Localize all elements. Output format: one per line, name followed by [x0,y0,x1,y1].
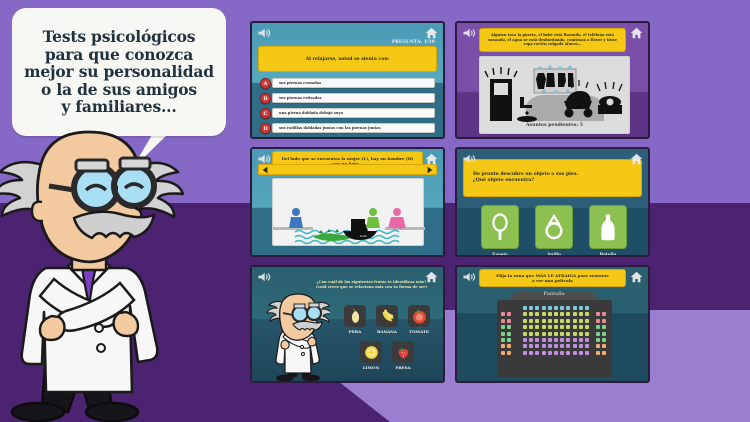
seat-side-right-middle[interactable] [596,325,600,329]
seat-center-middle[interactable] [566,332,570,336]
seat-center-middle[interactable] [585,332,589,336]
svg-text:bote: bote [360,234,367,238]
seat-side-left-back[interactable] [501,351,505,355]
seat-center-middle[interactable] [585,325,589,329]
seat-center-middle[interactable] [529,312,533,316]
seat-center-back[interactable] [573,338,577,342]
question-text: Al relajarse, usted se sienta con: [258,46,437,72]
answer-option-a[interactable]: sus piernas cruzadas [272,78,435,88]
screenshot-question-multiple-choice[interactable]: PREGUNTA: 1/10 Al relajarse, usted se si… [250,21,445,139]
seat-center-front[interactable] [535,306,539,310]
answer-badge-a[interactable]: A [260,78,271,89]
seat-side-left-front[interactable] [507,312,511,316]
speaker-icon[interactable] [462,271,476,283]
seat-center-back[interactable] [554,351,558,355]
seat-center-middle[interactable] [542,332,546,336]
seat-center-middle[interactable] [566,312,570,316]
seat-center-middle[interactable] [535,312,539,316]
seat-side-right-middle[interactable] [602,338,606,342]
strawberry-icon [395,344,412,361]
option-card-anillo[interactable] [535,205,573,249]
professor-character [0,120,184,422]
seat-center-front[interactable] [523,306,527,310]
seat-center-back[interactable] [529,344,533,348]
seat-center-back[interactable] [554,344,558,348]
seat-center-front[interactable] [585,306,589,310]
professor-avatar [266,291,330,383]
seat-center-back[interactable] [566,344,570,348]
screenshot-cinema-seat-choice[interactable]: Elija la zona que MÁS LE ATRAIGA para se… [455,265,650,383]
seat-side-right-front[interactable] [602,312,606,316]
seat-center-back[interactable] [560,338,564,342]
home-icon[interactable] [425,153,438,165]
river-scene: bote [273,179,425,247]
seat-center-middle[interactable] [535,332,539,336]
seat-center-back[interactable] [554,338,558,342]
nav-bar [258,164,437,175]
home-icon[interactable] [425,27,438,39]
seat-center-back[interactable] [548,338,552,342]
seat-center-back[interactable] [542,351,546,355]
seat-center-back[interactable] [566,338,570,342]
prev-arrow-icon[interactable] [261,166,269,174]
seat-side-right-middle[interactable] [596,338,600,342]
seat-center-back[interactable] [548,344,552,348]
seat-center-middle[interactable] [554,332,558,336]
seat-side-left-front[interactable] [501,312,505,316]
seat-center-back[interactable] [529,338,533,342]
seat-center-middle[interactable] [573,319,577,323]
seat-side-right-front[interactable] [596,312,600,316]
answer-badge-d[interactable]: D [260,123,271,134]
answer-option-c[interactable]: una pierna doblada debajo suyo [272,108,435,118]
seat-center-back[interactable] [523,338,527,342]
seat-side-right-back[interactable] [596,344,600,348]
seat-center-middle[interactable] [529,325,533,329]
seat-center-back[interactable] [560,344,564,348]
answer-badge-c[interactable]: C [260,108,271,119]
lemon-icon [363,344,380,361]
seat-side-right-back[interactable] [602,344,606,348]
home-icon[interactable] [630,27,643,39]
seat-center-middle[interactable] [579,325,583,329]
seat-center-back[interactable] [585,344,589,348]
option-card-espejo[interactable] [481,205,519,249]
seat-center-middle[interactable] [535,319,539,323]
seat-side-left-front[interactable] [507,319,511,323]
seat-center-middle[interactable] [548,325,552,329]
seat-center-middle[interactable] [523,325,527,329]
screen-label: Pantalla [509,292,599,297]
speaker-icon[interactable] [257,153,271,165]
seat-side-left-back[interactable] [507,344,511,348]
fruit-label-fresa: FRESA [383,365,423,370]
seat-center-middle[interactable] [579,332,583,336]
scenario-text: Alguien toca la puerta, el bebé está llo… [479,28,626,52]
seat-center-middle[interactable] [566,325,570,329]
seat-center-back[interactable] [535,338,539,342]
question-text: Elija la zona que MÁS LE ATRAIGA para se… [479,269,626,287]
seat-center-back[interactable] [535,344,539,348]
bottle-icon [597,212,619,242]
seat-side-left-middle[interactable] [501,325,505,329]
seat-center-back[interactable] [579,351,583,355]
seat-center-front[interactable] [548,306,552,310]
option-label-botella: Botella [583,252,633,257]
seat-center-front[interactable] [529,306,533,310]
seat-center-middle[interactable] [560,319,564,323]
seat-side-left-middle[interactable] [507,325,511,329]
seat-center-back[interactable] [566,351,570,355]
seat-center-front[interactable] [573,306,577,310]
seat-center-back[interactable] [523,344,527,348]
seat-center-back[interactable] [548,351,552,355]
screenshot-object-choice[interactable]: De pronto descubre un objeto a sus pies.… [455,147,650,257]
seat-center-middle[interactable] [585,312,589,316]
seat-center-middle[interactable] [529,319,533,323]
fruit-card-limon[interactable] [360,341,382,363]
seat-center-middle[interactable] [573,325,577,329]
seat-side-right-middle[interactable] [602,325,606,329]
seating-chart[interactable] [497,300,612,378]
seat-center-front[interactable] [560,306,564,310]
fruit-card-banana[interactable] [376,305,398,327]
speaker-icon[interactable] [257,271,271,283]
seat-center-back[interactable] [579,338,583,342]
seat-center-back[interactable] [535,351,539,355]
seat-center-middle[interactable] [548,312,552,316]
seat-center-middle[interactable] [523,312,527,316]
seat-center-back[interactable] [523,351,527,355]
question-text: De pronto descubre un objeto a sus pies.… [463,159,642,197]
question-counter: PREGUNTA: 1/10 [392,39,435,44]
seat-center-front[interactable] [554,306,558,310]
seat-center-middle[interactable] [523,332,527,336]
seat-center-middle[interactable] [554,312,558,316]
banana-icon [379,308,396,325]
seat-center-front[interactable] [566,306,570,310]
mirror-icon [489,212,511,242]
seat-center-middle[interactable] [579,312,583,316]
answer-option-b[interactable]: sus piernas estiradas [272,93,435,103]
home-icon[interactable] [630,271,643,283]
fruit-card-tomate[interactable] [408,305,430,327]
fruit-card-pera[interactable] [344,305,366,327]
fruit-card-fresa[interactable] [392,341,414,363]
option-label-anillo: Anillo [529,252,579,257]
seat-side-left-middle[interactable] [507,338,511,342]
speaker-icon[interactable] [462,153,476,165]
seat-center-back[interactable] [542,338,546,342]
ring-icon [543,212,565,242]
seat-center-middle[interactable] [554,319,558,323]
answer-badge-b[interactable]: B [260,93,271,104]
pear-icon [347,308,364,325]
seat-center-middle[interactable] [554,325,558,329]
seat-center-back[interactable] [573,351,577,355]
seat-center-middle[interactable] [585,319,589,323]
seat-side-left-middle[interactable] [501,332,505,336]
seat-center-middle[interactable] [542,325,546,329]
home-icon[interactable] [630,153,643,165]
question-text: ¿Con cuál de las siguientes frutas te id… [304,280,439,290]
speech-bubble: Tests psicológicos para que conozca mejo… [12,8,226,136]
seat-center-middle[interactable] [566,319,570,323]
seat-side-right-back[interactable] [602,351,606,355]
seat-center-back[interactable] [560,351,564,355]
seat-center-middle[interactable] [548,332,552,336]
seat-center-middle[interactable] [535,325,539,329]
seat-center-middle[interactable] [529,332,533,336]
seat-side-right-front[interactable] [596,319,600,323]
home-icon[interactable] [425,271,438,283]
screenshot-pending-tasks[interactable]: Alguien toca la puerta, el bebé está llo… [455,21,650,139]
river-stage: bote [272,178,424,246]
seat-center-back[interactable] [573,344,577,348]
seat-center-middle[interactable] [560,325,564,329]
seat-center-middle[interactable] [573,332,577,336]
screenshot-fruit-identity[interactable]: ¿Con cuál de las siguientes frutas te id… [250,265,445,383]
pending-tasks-label: Asuntos pendientes: 5 [479,123,630,128]
seat-side-left-middle[interactable] [501,338,505,342]
seat-center-middle[interactable] [542,319,546,323]
seat-side-right-middle[interactable] [602,332,606,336]
screenshot-river-crossing[interactable]: Del lado que se encuentra la mujer (L), … [250,147,445,257]
seat-center-front[interactable] [579,306,583,310]
seat-side-left-middle[interactable] [507,332,511,336]
seat-center-middle[interactable] [560,312,564,316]
seat-side-left-front[interactable] [501,319,505,323]
seat-center-back[interactable] [585,338,589,342]
seat-side-right-middle[interactable] [596,332,600,336]
seat-center-back[interactable] [542,344,546,348]
speaker-icon[interactable] [462,27,476,39]
seat-side-left-back[interactable] [507,351,511,355]
fruit-label-tomate: TOMATE [399,329,439,334]
seat-center-middle[interactable] [542,312,546,316]
seat-center-back[interactable] [585,351,589,355]
seat-center-back[interactable] [529,351,533,355]
next-arrow-icon[interactable] [426,166,434,174]
seat-center-middle[interactable] [579,319,583,323]
seat-center-middle[interactable] [573,312,577,316]
option-card-botella[interactable] [589,205,627,249]
seat-center-back[interactable] [579,344,583,348]
seat-center-front[interactable] [542,306,546,310]
seat-center-middle[interactable] [523,319,527,323]
answer-option-d[interactable]: sus rodillas dobladas juntas con las pie… [272,123,435,133]
speaker-icon[interactable] [257,27,271,39]
seat-side-left-back[interactable] [501,344,505,348]
seat-side-right-front[interactable] [602,319,606,323]
promo-headline: Tests psicológicos para que conozca mejo… [24,28,214,116]
option-label-espejo: Espejo [475,252,525,257]
seat-center-middle[interactable] [560,332,564,336]
seat-side-right-back[interactable] [596,351,600,355]
tomato-icon [411,308,428,325]
seat-center-middle[interactable] [548,319,552,323]
